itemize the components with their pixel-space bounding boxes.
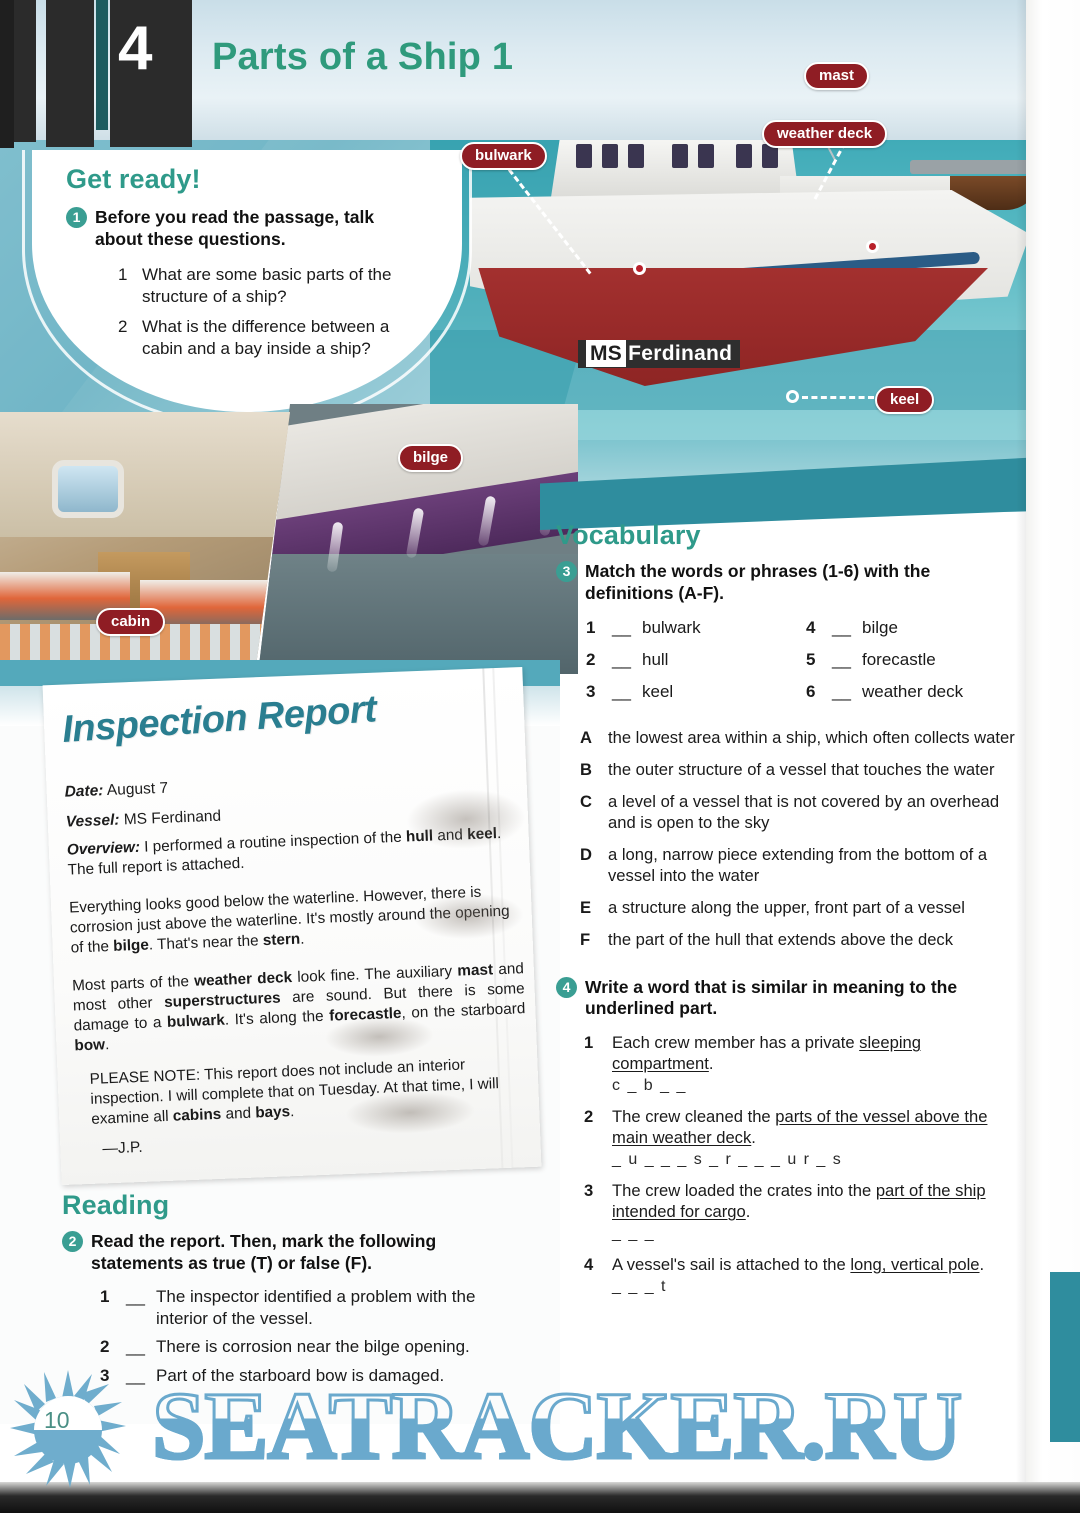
callout-dot-bulwark bbox=[633, 262, 646, 275]
statement-text: The inspector identified a problem with … bbox=[156, 1286, 511, 1329]
item-pre-text: A vessel's sail is attached to the bbox=[612, 1255, 850, 1274]
report-text: . bbox=[300, 930, 305, 947]
reading-prompt: Read the report. Then, mark the followin… bbox=[91, 1231, 499, 1274]
report-text: Most parts of the bbox=[72, 973, 195, 995]
list-item: 3 The crew loaded the crates into the pa… bbox=[584, 1180, 1026, 1245]
report-text: . It's along the bbox=[224, 1007, 329, 1028]
header-bar-group bbox=[0, 0, 200, 147]
item-index: 1 bbox=[584, 1032, 612, 1097]
definition-letter: E bbox=[580, 898, 608, 919]
reading-heading: Reading bbox=[62, 1190, 532, 1221]
report-keyword-weather-deck: weather deck bbox=[194, 969, 293, 990]
page-bottom-edge bbox=[0, 1482, 1080, 1513]
list-item: F the part of the hull that extends abov… bbox=[580, 930, 1026, 951]
cabin-wall bbox=[0, 412, 290, 537]
answer-blank[interactable]: __ bbox=[832, 618, 862, 638]
leader-line-keel bbox=[802, 396, 874, 399]
item-index: 2 bbox=[584, 1106, 612, 1171]
page-number: 10 bbox=[44, 1407, 70, 1434]
vocabulary-column-right: 4 __ bilge 5 __ forecastle 6 __ weather … bbox=[806, 618, 1026, 714]
definition-text: the lowest area within a ship, which oft… bbox=[608, 728, 1015, 749]
report-text: . bbox=[105, 1036, 110, 1053]
exercise-4-section: 4 Write a word that is similar in meanin… bbox=[556, 977, 1026, 1298]
report-keyword-bilge: bilge bbox=[113, 936, 149, 954]
report-paragraph-3: Most parts of the weather deck look fine… bbox=[72, 959, 527, 1056]
list-item: D a long, narrow piece extending from th… bbox=[580, 845, 1026, 887]
list-item: B the outer structure of a vessel that t… bbox=[580, 760, 1026, 781]
question-text: What is the difference between a cabin a… bbox=[142, 316, 412, 359]
answer-blank[interactable]: __ bbox=[126, 1336, 156, 1357]
list-item: E a structure along the upper, front par… bbox=[580, 898, 1026, 919]
cabin-porthole bbox=[52, 460, 124, 518]
report-date-line: Date: August 7 bbox=[64, 765, 516, 802]
report-overview-label: Overview: bbox=[67, 839, 141, 859]
exercise-badge-2: 2 bbox=[62, 1231, 83, 1252]
word-text: keel bbox=[642, 682, 673, 702]
vocabulary-heading: Vocabulary bbox=[556, 520, 1026, 551]
list-item: 2 __ hull bbox=[586, 650, 806, 670]
word-index: 1 bbox=[586, 618, 612, 638]
report-text: and bbox=[433, 826, 468, 844]
report-keyword-bays: bays bbox=[255, 1103, 291, 1121]
callout-mast: mast bbox=[804, 62, 869, 90]
unit-number: 4 bbox=[118, 18, 152, 80]
report-text: . That's near the bbox=[149, 932, 264, 953]
ship-name-text: Ferdinand bbox=[628, 342, 732, 365]
exercise-4-list: 1 Each crew member has a private sleepin… bbox=[556, 1032, 1026, 1298]
definition-letter: C bbox=[580, 792, 608, 834]
callout-cabin: cabin bbox=[96, 608, 165, 636]
word-index: 6 bbox=[806, 682, 832, 702]
report-keyword-mast: mast bbox=[457, 961, 493, 979]
definition-letter: F bbox=[580, 930, 608, 951]
question-text: What are some basic parts of the structu… bbox=[142, 264, 412, 307]
word-index: 2 bbox=[586, 650, 612, 670]
definition-text: a structure along the upper, front part … bbox=[608, 898, 965, 919]
bilge-water bbox=[258, 554, 578, 674]
list-item: 2 What is the difference between a cabin… bbox=[118, 316, 426, 359]
list-item: 3 __ keel bbox=[586, 682, 806, 702]
exercise-4-prompt: Write a word that is similar in meaning … bbox=[585, 977, 985, 1020]
word-index: 4 bbox=[806, 618, 832, 638]
word-text: forecastle bbox=[862, 650, 936, 670]
report-signature: —J.P. bbox=[78, 1123, 530, 1160]
list-item: A the lowest area within a ship, which o… bbox=[580, 728, 1026, 749]
definition-text: the outer structure of a vessel that tou… bbox=[608, 760, 994, 781]
answer-cue[interactable]: _ u _ _ _ s _ r _ _ _ u r _ s bbox=[612, 1150, 992, 1170]
answer-blank[interactable]: __ bbox=[832, 682, 862, 702]
definition-letter: B bbox=[580, 760, 608, 781]
report-keyword-keel: keel bbox=[467, 825, 497, 843]
item-post-text: . bbox=[709, 1054, 714, 1073]
report-date-value: August 7 bbox=[107, 780, 169, 799]
definition-list: A the lowest area within a ship, which o… bbox=[556, 728, 1026, 950]
vocabulary-column-left: 1 __ bulwark 2 __ hull 3 __ keel bbox=[586, 618, 806, 714]
list-item: 2 __ There is corrosion near the bilge o… bbox=[100, 1336, 532, 1357]
definition-text: a long, narrow piece extending from the … bbox=[608, 845, 1026, 887]
word-text: weather deck bbox=[862, 682, 963, 702]
exercise-badge-3: 3 bbox=[556, 561, 577, 582]
page-title: Parts of a Ship 1 bbox=[212, 36, 513, 79]
report-text: . bbox=[290, 1103, 295, 1120]
callout-keel: keel bbox=[875, 386, 934, 414]
report-date-label: Date: bbox=[64, 782, 103, 800]
vocabulary-section: Vocabulary 3 Match the words or phrases … bbox=[556, 520, 1026, 951]
report-keyword-superstructures: superstructures bbox=[164, 989, 281, 1010]
item-post-text: . bbox=[751, 1128, 756, 1147]
item-pre-text: The crew cleaned the bbox=[612, 1107, 775, 1126]
item-post-text: . bbox=[746, 1202, 751, 1221]
report-text: I performed a routine inspection of the bbox=[140, 829, 407, 856]
get-ready-question-list: 1 What are some basic parts of the struc… bbox=[66, 264, 426, 359]
list-item: 6 __ weather deck bbox=[806, 682, 1026, 702]
item-pre-text: The crew loaded the crates into the bbox=[612, 1181, 876, 1200]
list-item: 5 __ forecastle bbox=[806, 650, 1026, 670]
report-keyword-forecastle: forecastle bbox=[329, 1005, 402, 1025]
definition-text: a level of a vessel that is not covered … bbox=[608, 792, 1026, 834]
report-vessel-value: MS Ferdinand bbox=[124, 808, 222, 829]
definition-text: the part of the hull that extends above … bbox=[608, 930, 953, 951]
report-paragraph-overview: Overview: I performed a routine inspecti… bbox=[67, 823, 520, 880]
report-keyword-bulwark: bulwark bbox=[167, 1011, 225, 1030]
vocabulary-prompt: Match the words or phrases (1-6) with th… bbox=[585, 561, 985, 604]
report-keyword-cabins: cabins bbox=[173, 1106, 222, 1125]
callout-bulwark: bulwark bbox=[460, 142, 547, 170]
list-item: 4 A vessel's sail is attached to the lon… bbox=[584, 1254, 1026, 1298]
get-ready-prompt: Before you read the passage, talk about … bbox=[95, 207, 415, 250]
watermark: SEATRACKER.RU bbox=[152, 1378, 961, 1474]
answer-blank[interactable]: __ bbox=[126, 1286, 156, 1329]
answer-cue[interactable]: _ _ _ t bbox=[612, 1277, 992, 1297]
report-title: Inspection Report bbox=[61, 688, 378, 752]
statement-text: There is corrosion near the bilge openin… bbox=[156, 1336, 511, 1357]
item-post-text: . bbox=[980, 1255, 985, 1274]
exercise-badge-4: 4 bbox=[556, 977, 577, 998]
definition-letter: A bbox=[580, 728, 608, 749]
word-text: hull bbox=[642, 650, 668, 670]
page-edge-dark bbox=[0, 0, 14, 148]
inspection-report-card: Inspection Report Date: August 7 Vessel:… bbox=[43, 667, 542, 1185]
list-item: 4 __ bilge bbox=[806, 618, 1026, 638]
textbook-page: MSFerdinand mast weather deck bulwark ke… bbox=[0, 0, 1080, 1513]
report-vessel-label: Vessel: bbox=[66, 812, 120, 831]
list-item: 1 Each crew member has a private sleepin… bbox=[584, 1032, 1026, 1097]
callout-bilge: bilge bbox=[398, 444, 463, 472]
word-index: 3 bbox=[586, 682, 612, 702]
question-index: 1 bbox=[118, 264, 142, 307]
definition-letter: D bbox=[580, 845, 608, 887]
word-text: bulwark bbox=[642, 618, 701, 638]
word-text: bilge bbox=[862, 618, 898, 638]
report-paragraph-note: PLEASE NOTE: This report does not includ… bbox=[75, 1053, 529, 1130]
ship-name-prefix: MS bbox=[586, 340, 626, 367]
vocabulary-word-grid: 1 __ bulwark 2 __ hull 3 __ keel bbox=[556, 618, 1026, 714]
bottom-right-teal-corner bbox=[1050, 1272, 1080, 1442]
reading-section: Reading 2 Read the report. Then, mark th… bbox=[62, 1190, 532, 1393]
get-ready-heading: Get ready! bbox=[66, 164, 426, 195]
report-text: and bbox=[221, 1104, 256, 1122]
ship-name-plate: MSFerdinand bbox=[578, 340, 740, 368]
list-item: 2 The crew cleaned the parts of the vess… bbox=[584, 1106, 1026, 1171]
question-index: 2 bbox=[118, 316, 142, 359]
item-index: 4 bbox=[584, 1254, 612, 1298]
answer-blank[interactable]: __ bbox=[612, 650, 642, 670]
statement-index: 1 bbox=[100, 1286, 126, 1329]
item-pre-text: Each crew member has a private bbox=[612, 1033, 859, 1052]
report-keyword-bow: bow bbox=[74, 1036, 105, 1054]
word-index: 5 bbox=[806, 650, 832, 670]
right-column: Vocabulary 3 Match the words or phrases … bbox=[556, 520, 1026, 1307]
item-index: 3 bbox=[584, 1180, 612, 1245]
list-item: 1 __ bulwark bbox=[586, 618, 806, 638]
report-keyword-hull: hull bbox=[406, 828, 434, 846]
callout-dot-weather-deck bbox=[866, 240, 879, 253]
report-keyword-stern: stern bbox=[262, 930, 300, 948]
answer-cue[interactable]: _ _ _ bbox=[612, 1224, 992, 1244]
report-paragraph-2: Everything looks good below the waterlin… bbox=[69, 881, 523, 958]
answer-blank[interactable]: __ bbox=[832, 650, 862, 670]
list-item: C a level of a vessel that is not covere… bbox=[580, 792, 1026, 834]
answer-blank[interactable]: __ bbox=[612, 682, 642, 702]
item-underlined-phrase: long, vertical pole bbox=[850, 1255, 979, 1274]
answer-cue[interactable]: c _ b _ _ bbox=[612, 1076, 992, 1096]
answer-blank[interactable]: __ bbox=[612, 618, 642, 638]
exercise-badge-1: 1 bbox=[66, 207, 87, 228]
get-ready-block: Get ready! 1 Before you read the passage… bbox=[66, 164, 426, 359]
callout-weather-deck: weather deck bbox=[762, 120, 887, 148]
list-item: 1 What are some basic parts of the struc… bbox=[118, 264, 426, 307]
callout-dot-keel bbox=[786, 390, 799, 403]
list-item: 1 __ The inspector identified a problem … bbox=[100, 1286, 532, 1329]
statement-index: 2 bbox=[100, 1336, 126, 1357]
